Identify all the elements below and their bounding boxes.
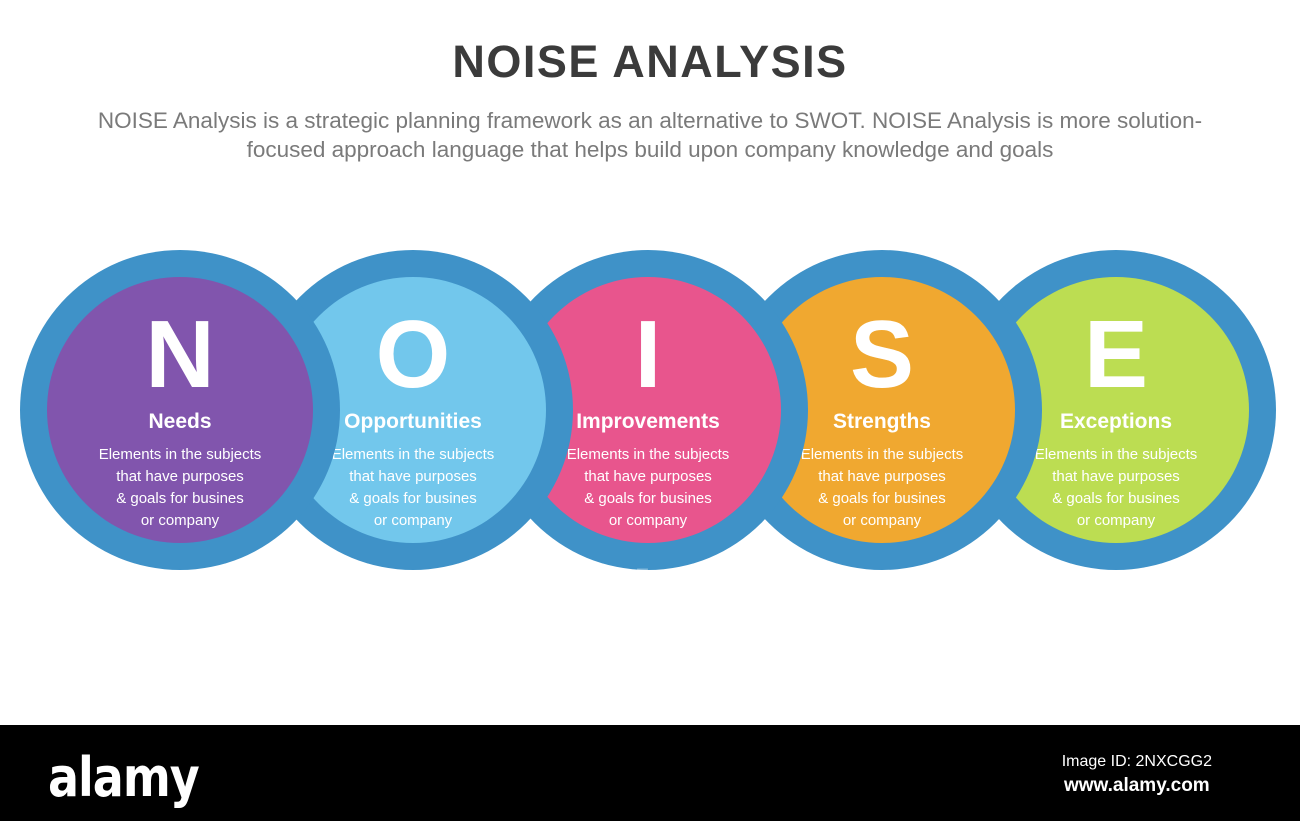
node-letter: I [635,311,662,399]
footer-metadata: Image ID: 2NXCGG2 www.alamy.com [1062,750,1212,799]
diagram-node-needs[interactable]: N Needs Elements in the subjects that ha… [20,250,340,570]
node-description: Elements in the subjects that have purpo… [1035,444,1198,531]
node-disc: N Needs Elements in the subjects that ha… [47,277,313,543]
page-subtitle: NOISE Analysis is a strategic planning f… [60,107,1240,165]
node-title: Strengths [833,411,931,432]
node-description: Elements in the subjects that have purpo… [99,444,262,531]
node-description: Elements in the subjects that have purpo… [332,444,495,531]
node-title: Needs [148,411,211,432]
node-letter: O [376,311,451,399]
node-letter: E [1084,311,1148,399]
alamy-logo: alamy [48,750,199,804]
node-title: Improvements [576,411,720,432]
node-title: Exceptions [1060,411,1172,432]
node-description: Elements in the subjects that have purpo… [801,444,964,531]
alamy-url[interactable]: www.alamy.com [1062,773,1212,799]
node-title: Opportunities [344,411,482,432]
footer-bar: alamy Image ID: 2NXCGG2 www.alamy.com [0,725,1300,821]
noise-diagram: N Needs Elements in the subjects that ha… [0,250,1300,590]
header: NOISE ANALYSIS NOISE Analysis is a strat… [0,0,1300,165]
node-letter: S [850,311,914,399]
node-description: Elements in the subjects that have purpo… [567,444,730,531]
node-letter: N [145,311,214,399]
image-id-label: Image ID: 2NXCGG2 [1062,750,1212,773]
page-title: NOISE ANALYSIS [0,38,1300,85]
watermark-brand: alamy [592,562,792,640]
